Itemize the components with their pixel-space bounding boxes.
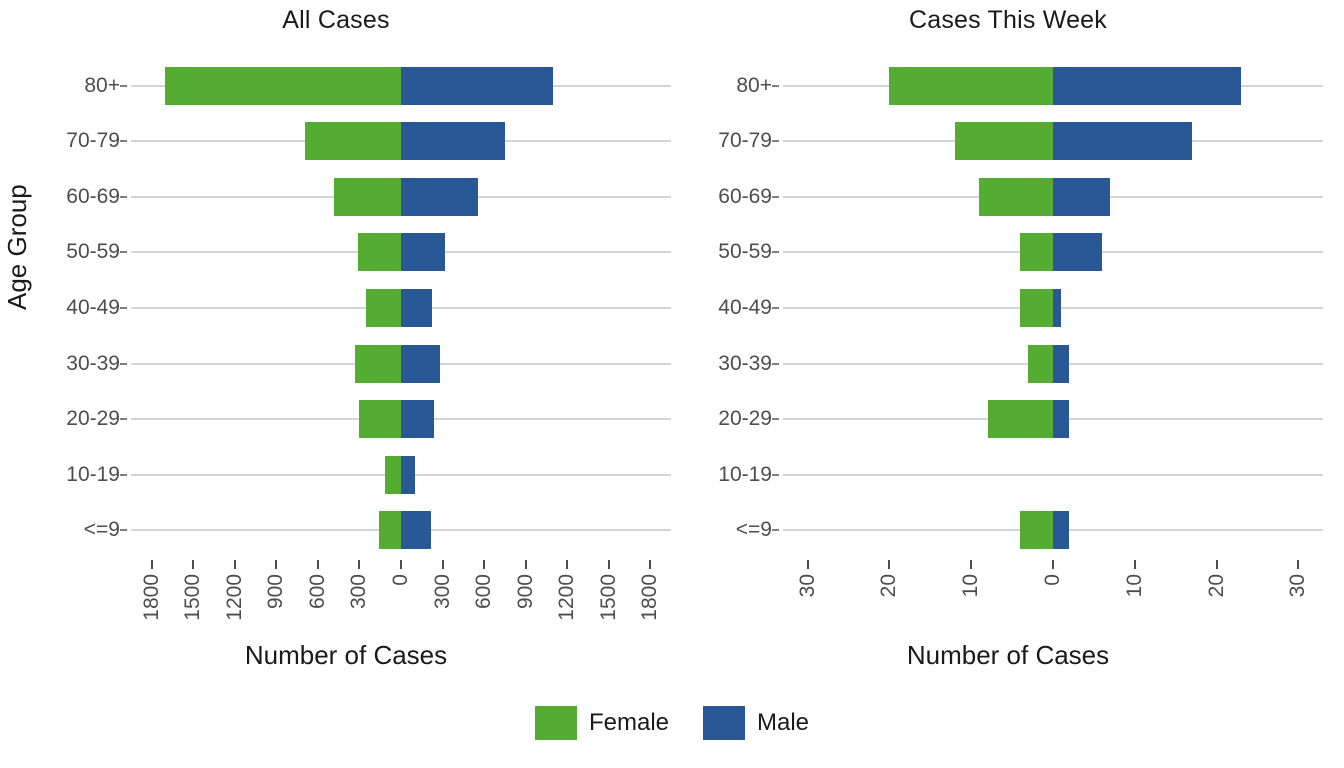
bar-row [783, 225, 1323, 281]
y-tick-mark [120, 85, 127, 87]
bar-row [131, 447, 671, 503]
x-tick-label: 0 [1053, 562, 1077, 574]
bar-female [1020, 233, 1053, 271]
bar-male [1053, 345, 1069, 383]
y-tick-mark [772, 196, 779, 198]
bar-male [401, 345, 440, 383]
legend-swatch-male [703, 706, 745, 740]
bar-male [1053, 233, 1102, 271]
bar-female [355, 345, 401, 383]
bar-male [401, 511, 431, 549]
y-tick-mark [120, 474, 127, 476]
y-tick-mark [772, 474, 779, 476]
legend-item-female: Female [535, 706, 669, 740]
x-tick-label: 1800 [650, 527, 674, 574]
y-tick-label: 80+ [84, 74, 120, 98]
bar-row [131, 336, 671, 392]
y-tick-mark [120, 529, 127, 531]
y-tick-label: 70-79 [718, 129, 772, 153]
bar-female [165, 67, 401, 105]
bar-male [1053, 122, 1192, 160]
bar-male [401, 456, 415, 494]
y-tick-label: 10-19 [718, 463, 772, 487]
bar-male [1053, 511, 1069, 549]
y-tick-mark [772, 363, 779, 365]
bar-row [131, 225, 671, 281]
legend-label-male: Male [757, 709, 809, 737]
panel-cases-this-week: Cases This Week Number of Cases 80+70-79… [672, 0, 1344, 700]
bar-row [783, 114, 1323, 170]
bar-male [401, 289, 432, 327]
y-tick-mark [120, 140, 127, 142]
x-tick-label: 600 [484, 539, 508, 574]
y-tick-mark [772, 140, 779, 142]
y-tick-mark [120, 251, 127, 253]
y-tick-label: <=9 [84, 518, 120, 542]
bar-male [401, 122, 505, 160]
y-axis-title-left: Age Group [2, 184, 33, 310]
bar-row [131, 114, 671, 170]
x-tick-label: 1500 [193, 527, 217, 574]
y-tick-label: 40-49 [66, 296, 120, 320]
x-tick-label: 20 [889, 551, 913, 574]
x-tick-label: 1200 [567, 527, 591, 574]
y-tick-label: 30-39 [718, 352, 772, 376]
x-tick-label: 0 [401, 562, 425, 574]
legend-label-female: Female [589, 709, 669, 737]
bar-female [988, 400, 1053, 438]
y-tick-mark [772, 307, 779, 309]
y-tick-mark [772, 529, 779, 531]
bar-female [359, 400, 401, 438]
y-tick-mark [120, 196, 127, 198]
y-tick-label: 40-49 [718, 296, 772, 320]
plot-area-all-cases [131, 58, 671, 558]
x-tick-label: 20 [1217, 551, 1241, 574]
bar-female [305, 122, 401, 160]
bar-row [783, 391, 1323, 447]
bar-row [131, 391, 671, 447]
y-tick-mark [120, 307, 127, 309]
bar-female [1020, 511, 1053, 549]
x-tick-label: 10 [971, 551, 995, 574]
x-tick-label: 30 [1298, 551, 1322, 574]
bar-row [783, 58, 1323, 114]
bar-female [955, 122, 1053, 160]
bar-female [889, 67, 1053, 105]
bar-female [334, 178, 401, 216]
bar-row [783, 169, 1323, 225]
x-tick-label: 900 [526, 539, 550, 574]
x-tick-label: 30 [808, 551, 832, 574]
x-tick-label: 900 [276, 539, 300, 574]
bar-male [401, 67, 553, 105]
y-tick-label: <=9 [736, 518, 772, 542]
y-tick-label: 50-59 [66, 240, 120, 264]
x-axis-title-right: Number of Cases [672, 640, 1344, 671]
y-tick-label: 60-69 [718, 185, 772, 209]
x-tick-label: 300 [359, 539, 383, 574]
panel-all-cases: All Cases Age Group Number of Cases 80+7… [0, 0, 672, 700]
y-tick-mark [772, 418, 779, 420]
bar-female [1020, 289, 1053, 327]
bar-male [1053, 67, 1241, 105]
y-tick-label: 70-79 [66, 129, 120, 153]
panel-title-cases-this-week: Cases This Week [672, 6, 1344, 35]
bar-row [783, 447, 1323, 503]
x-tick-label: 600 [318, 539, 342, 574]
bar-row [131, 169, 671, 225]
bar-male [1053, 400, 1069, 438]
bar-row [131, 58, 671, 114]
bar-female [366, 289, 401, 327]
chart-page: All Cases Age Group Number of Cases 80+7… [0, 0, 1344, 768]
bar-female [385, 456, 401, 494]
panel-title-all-cases: All Cases [0, 6, 672, 35]
bar-female [1028, 345, 1053, 383]
bar-male [401, 178, 478, 216]
bar-row [783, 502, 1323, 558]
bar-row [783, 336, 1323, 392]
x-axis-title-left: Number of Cases [0, 640, 682, 671]
y-tick-label: 50-59 [718, 240, 772, 264]
legend-item-male: Male [703, 706, 809, 740]
chart-legend: Female Male [0, 706, 1344, 740]
y-tick-mark [772, 251, 779, 253]
y-tick-label: 30-39 [66, 352, 120, 376]
y-tick-label: 10-19 [66, 463, 120, 487]
bar-row [783, 280, 1323, 336]
bar-female [979, 178, 1053, 216]
y-tick-mark [120, 418, 127, 420]
bar-female [358, 233, 401, 271]
y-tick-mark [120, 363, 127, 365]
x-tick-label: 300 [443, 539, 467, 574]
y-tick-label: 80+ [736, 74, 772, 98]
x-tick-label: 10 [1135, 551, 1159, 574]
bar-male [401, 400, 434, 438]
y-tick-label: 20-29 [718, 407, 772, 431]
legend-swatch-female [535, 706, 577, 740]
plot-area-cases-this-week [783, 58, 1323, 558]
bar-male [1053, 289, 1061, 327]
gridline [783, 474, 1323, 476]
y-tick-mark [772, 85, 779, 87]
x-tick-label: 1500 [609, 527, 633, 574]
y-tick-label: 60-69 [66, 185, 120, 209]
x-tick-label: 1800 [152, 527, 176, 574]
bar-male [1053, 178, 1110, 216]
y-tick-label: 20-29 [66, 407, 120, 431]
bar-row [131, 280, 671, 336]
bar-male [401, 233, 445, 271]
x-tick-label: 1200 [235, 527, 259, 574]
